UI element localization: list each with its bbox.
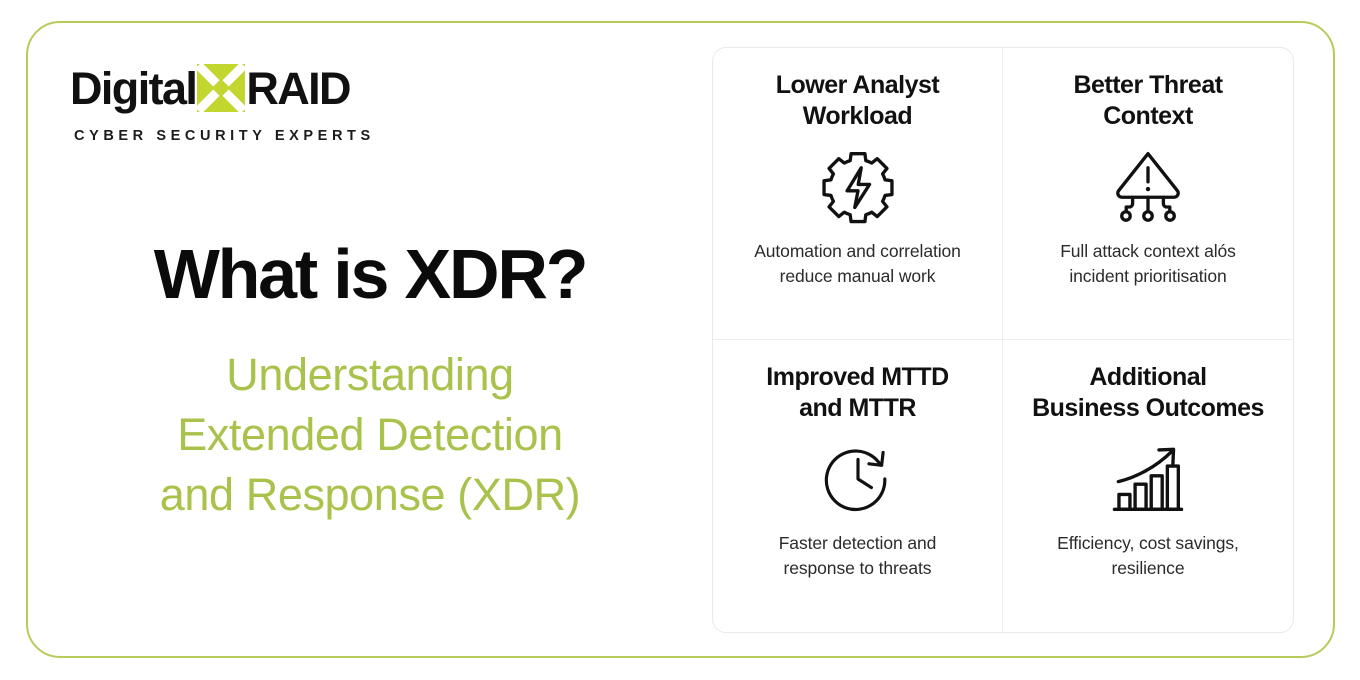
benefit-card-title: Lower Analyst Workload [776,70,939,131]
logo-word-digital: Digital [70,66,196,111]
logo-wordmark: Digital RAID [70,62,400,114]
growth-bar-chart-icon [1106,433,1190,525]
benefit-card-description: Efficiency, cost savings, resilience [1057,531,1239,581]
benefit-card-lower-analyst-workload: Lower Analyst Workload Automation and co… [713,48,1003,340]
logo-word-raid: RAID [246,66,350,111]
benefit-card-title: Additional Business Outcomes [1032,362,1264,423]
brand-logo: Digital RAID CYBER SECURITY EXPERTS [70,62,400,144]
benefit-card-title: Improved MTTD and MTTR [766,362,948,423]
benefit-card-additional-business-outcomes: Additional Business Outcomes Efficiency,… [1003,340,1293,632]
page-title: What is XDR? [60,238,680,312]
slide-canvas: Digital RAID CYBER SECURITY EXPERTS What… [0,0,1360,680]
benefit-card-description: Full attack context alós incident priori… [1060,239,1236,289]
subtitle-line-1: Understanding [60,345,680,405]
left-content-column: Digital RAID CYBER SECURITY EXPERTS What… [60,50,680,630]
subtitle-line-2: Extended Detection [60,405,680,465]
logo-x-mark-icon [197,64,245,112]
logo-tagline: CYBER SECURITY EXPERTS [74,128,400,144]
clock-refresh-icon [819,433,897,525]
benefit-card-improved-mttd-mttr: Improved MTTD and MTTR Faster detection … [713,340,1003,632]
benefit-card-description: Automation and correlation reduce manual… [754,239,961,289]
page-subtitle: Understanding Extended Detection and Res… [60,345,680,525]
benefit-card-better-threat-context: Better Threat Context Full attack contex… [1003,48,1293,340]
subtitle-line-3: and Response (XDR) [60,465,680,525]
gear-lightning-icon [817,141,899,233]
benefits-grid: Lower Analyst Workload Automation and co… [712,47,1294,633]
benefit-card-title: Better Threat Context [1073,70,1222,131]
warning-triangle-network-icon [1107,141,1189,233]
benefit-card-description: Faster detection and response to threats [779,531,937,581]
